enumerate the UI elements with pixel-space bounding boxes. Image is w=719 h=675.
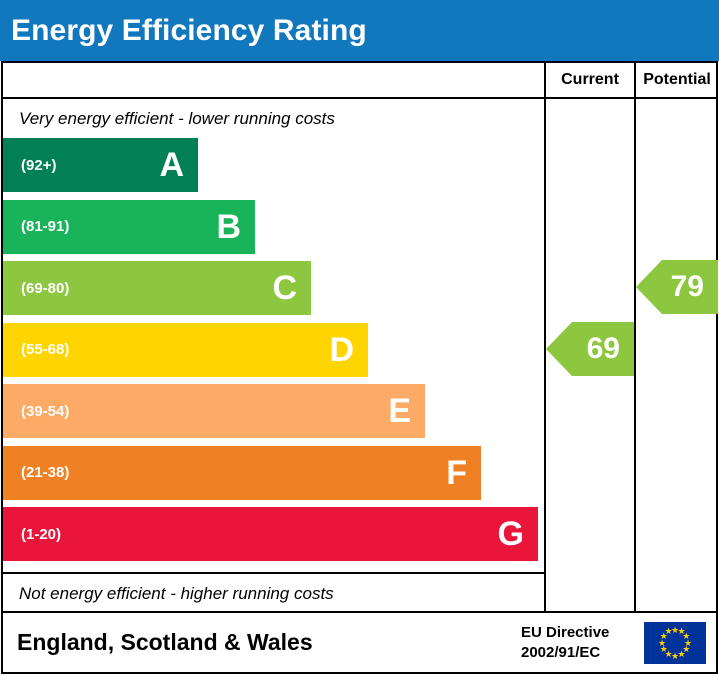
band-letter-label: D <box>329 333 354 367</box>
rating-band-g: (1-20)G <box>3 507 538 561</box>
band-range-label: (69-80) <box>3 280 69 297</box>
rating-band-b: (81-91)B <box>3 200 255 254</box>
band-letter-label: E <box>388 394 411 428</box>
band-range-label: (21-38) <box>3 464 69 481</box>
band-range-label: (92+) <box>3 157 56 174</box>
arrow-tip-icon <box>546 322 572 376</box>
directive-line-2: 2002/91/EC <box>521 643 609 663</box>
eu-flag-star-icon: ★ <box>664 627 673 636</box>
rating-band-c: (69-80)C <box>3 261 311 315</box>
rating-bands: (92+)A(81-91)B(69-80)C(55-68)D(39-54)E(2… <box>3 138 544 572</box>
rating-band-f: (21-38)F <box>3 446 481 500</box>
column-header-current: Current <box>546 63 634 97</box>
eu-flag-icon: ★★★★★★★★★★★★ <box>644 622 706 664</box>
band-range-label: (39-54) <box>3 403 69 420</box>
band-letter-label: F <box>446 456 467 490</box>
band-range-label: (81-91) <box>3 218 69 235</box>
band-range-label: (1-20) <box>3 526 61 543</box>
energy-efficiency-rating-chart: Energy Efficiency Rating Current Potenti… <box>0 0 719 675</box>
rating-band-e: (39-54)E <box>3 384 425 438</box>
band-letter-label: B <box>216 210 241 244</box>
footer-directive: EU Directive 2002/91/EC <box>521 613 609 672</box>
page-title: Energy Efficiency Rating <box>0 16 367 46</box>
rating-band-a: (92+)A <box>3 138 198 192</box>
band-letter-label: A <box>159 148 184 182</box>
caption-efficient: Very energy efficient - lower running co… <box>3 99 544 138</box>
column-header-row: Current Potential <box>3 63 716 99</box>
band-range-label: (55-68) <box>3 341 69 358</box>
column-divider-potential <box>634 63 636 611</box>
band-letter-label: C <box>272 271 297 305</box>
chart-title-bar: Energy Efficiency Rating <box>0 0 719 61</box>
current-rating-arrow: 69 <box>572 322 634 376</box>
band-letter-label: G <box>498 517 524 551</box>
chart-footer: England, Scotland & Wales EU Directive 2… <box>1 611 718 674</box>
column-header-potential: Potential <box>636 63 718 97</box>
potential-rating-arrow-value: 79 <box>671 270 704 304</box>
rating-band-d: (55-68)D <box>3 323 368 377</box>
potential-rating-arrow: 79 <box>662 260 718 314</box>
current-rating-arrow-value: 69 <box>587 332 620 366</box>
footer-region-label: England, Scotland & Wales <box>17 613 313 672</box>
directive-line-1: EU Directive <box>521 623 609 643</box>
arrow-tip-icon <box>636 260 662 314</box>
caption-inefficient: Not energy efficient - higher running co… <box>3 572 544 613</box>
chart-frame: Current Potential Very energy efficient … <box>1 61 718 613</box>
